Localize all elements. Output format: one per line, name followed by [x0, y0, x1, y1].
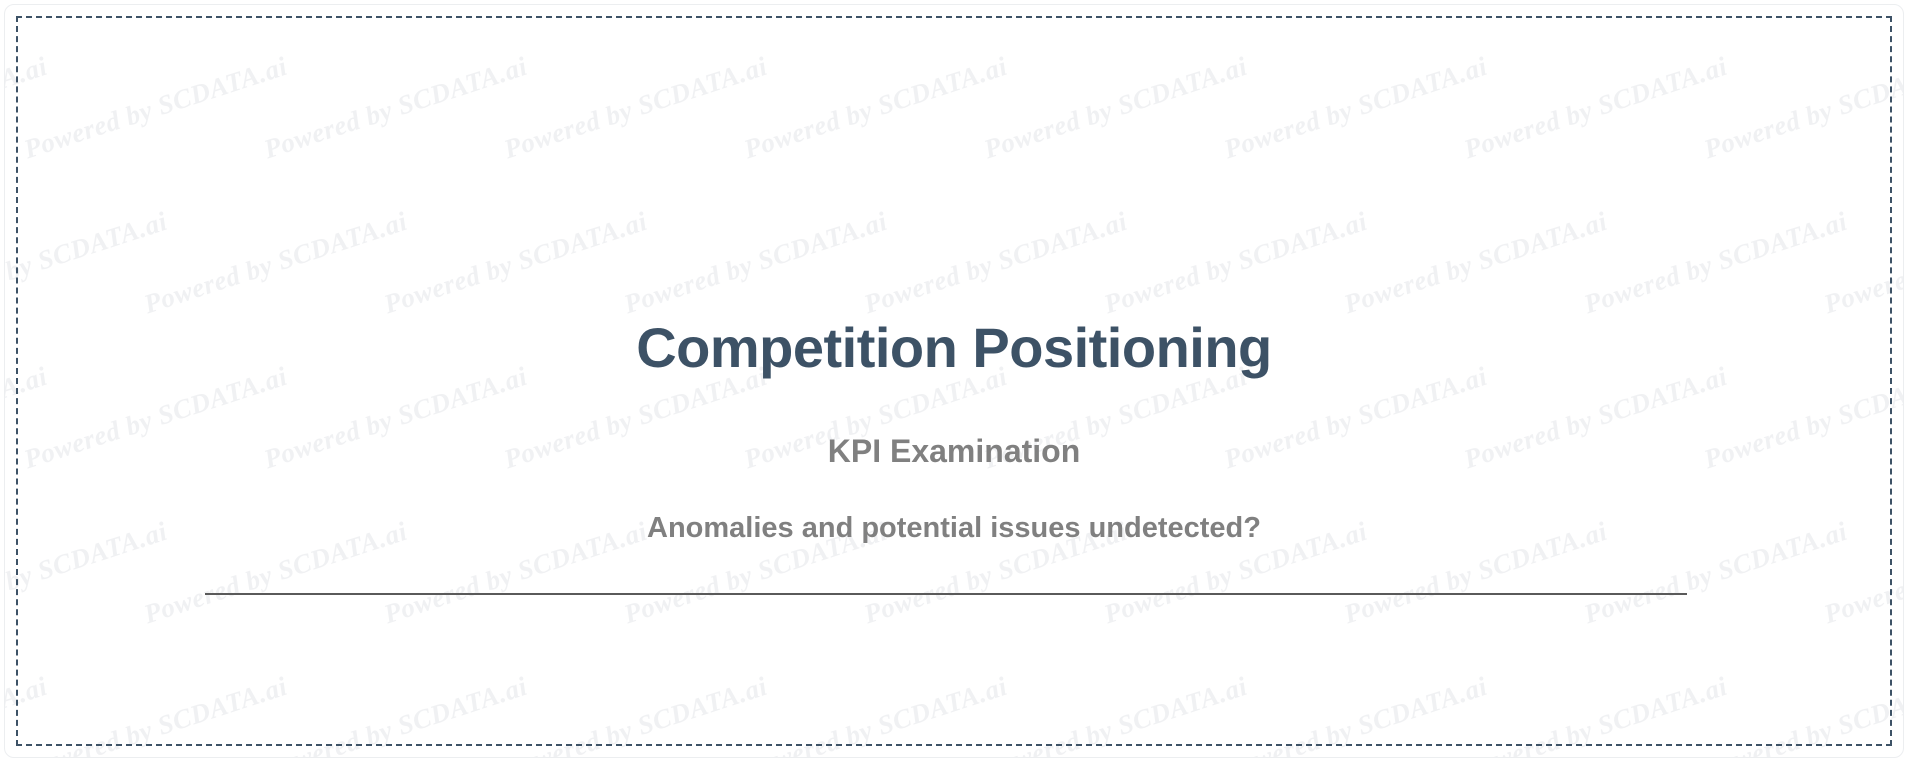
slide-question-text: Anomalies and potential issues undetecte… — [5, 513, 1903, 543]
divider-rule — [205, 593, 1687, 595]
slide-subtitle: KPI Examination — [5, 435, 1903, 469]
slide-frame: Powered by SCDATA.aiPowered by SCDATA.ai… — [4, 4, 1904, 758]
slide-content: Competition Positioning KPI Examination … — [5, 5, 1903, 757]
page-title: Competition Positioning — [5, 319, 1903, 378]
